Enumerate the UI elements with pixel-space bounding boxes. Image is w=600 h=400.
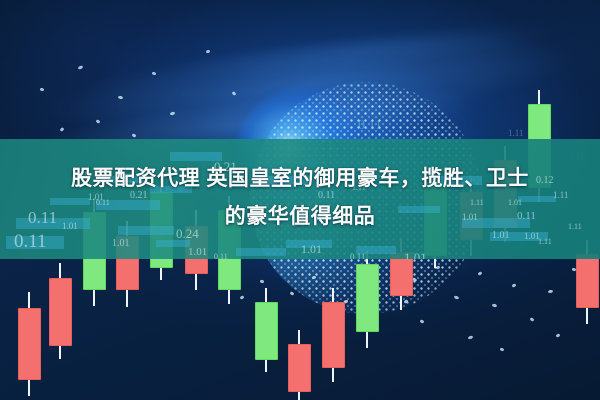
ticker-bar bbox=[356, 246, 396, 254]
candlestick-body bbox=[288, 344, 311, 392]
ticker-value: 1.11 bbox=[508, 128, 523, 138]
candlestick-body bbox=[576, 254, 599, 308]
ticker-bar bbox=[286, 240, 332, 248]
ticker-value: 1.01 bbox=[188, 246, 207, 258]
candlestick-body bbox=[322, 302, 345, 368]
ticker-bar bbox=[6, 236, 64, 249]
candlestick-body bbox=[49, 278, 72, 346]
ticker-value: 0.11 bbox=[358, 118, 382, 134]
ticker-bar bbox=[236, 248, 286, 256]
ticker-value: 1.01 bbox=[404, 250, 427, 259]
ticker-bar bbox=[156, 240, 190, 247]
headline-line-2: 的豪华值得细品 bbox=[0, 198, 600, 236]
headline: 股票配资代理 英国皇室的御用豪车，揽胜、卫士 的豪华值得细品 bbox=[0, 160, 600, 236]
candlestick-body bbox=[356, 264, 379, 332]
ticker-value: 1.01 bbox=[112, 238, 130, 249]
candlestick-body bbox=[18, 308, 41, 380]
ticker-value: 0.11 bbox=[214, 252, 228, 259]
banner-image: 0.110.211.111.11 0.110.111.011.011.010.2… bbox=[0, 0, 600, 400]
headline-line-1: 股票配资代理 英国皇室的御用豪车，揽胜、卫士 bbox=[0, 160, 600, 198]
candlestick-body bbox=[255, 302, 278, 360]
